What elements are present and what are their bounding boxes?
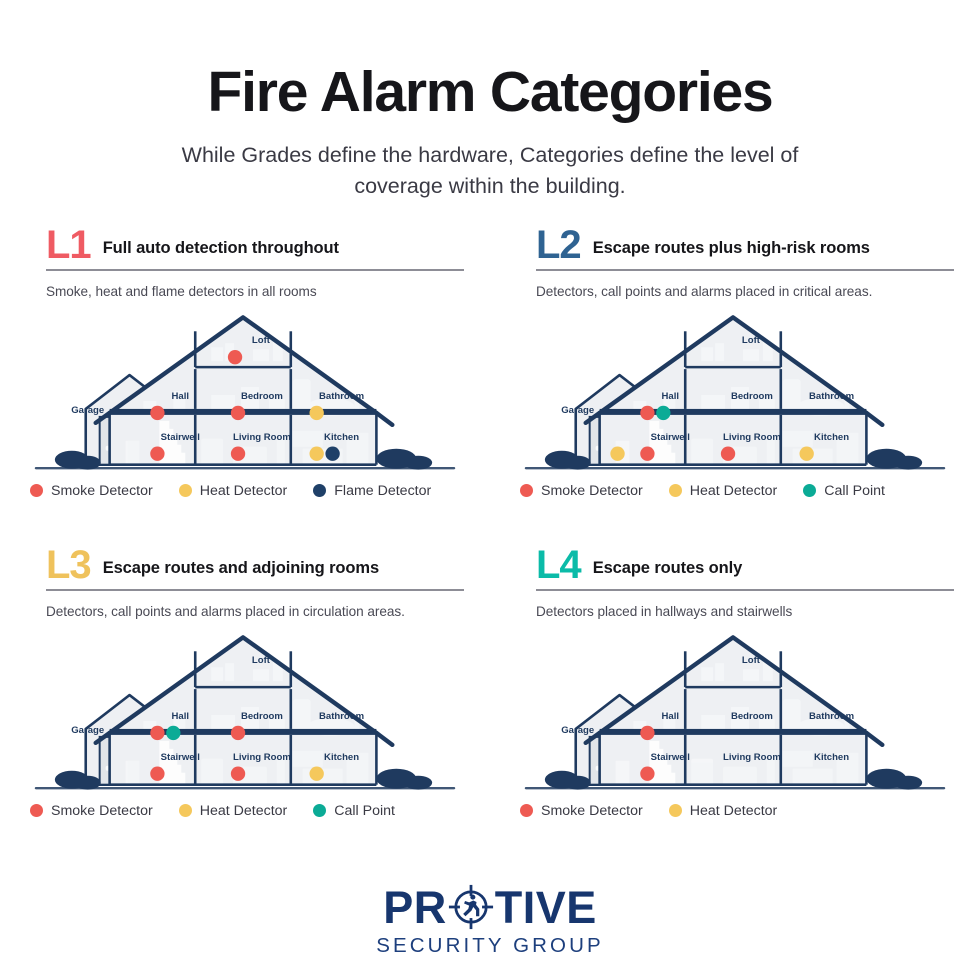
room-label-stairwell: Stairwell [651, 752, 690, 763]
legend-label: Smoke Detector [541, 483, 643, 499]
room-label-kitchen: Kitchen [324, 432, 359, 443]
room-label-bathroom: Bathroom [319, 391, 364, 402]
logo-text-after: TIVE [495, 885, 597, 930]
legend-l3: Smoke Detector Heat Detector Call Point [30, 803, 464, 819]
detector-smoke[interactable] [150, 726, 164, 740]
detector-flame[interactable] [325, 447, 339, 461]
room-label-garage: Garage [561, 405, 594, 416]
detector-smoke[interactable] [228, 350, 242, 364]
category-panel-l1: L1 Full auto detection throughout Smoke,… [0, 228, 490, 548]
legend-label: Call Point [334, 803, 395, 819]
detector-smoke[interactable] [640, 767, 654, 781]
detector-smoke[interactable] [640, 406, 654, 420]
category-grid: L1 Full auto detection throughout Smoke,… [0, 228, 980, 868]
brand-logo: PR TIVE SECURITY GROUP [0, 884, 980, 958]
room-label-bedroom: Bedroom [731, 391, 773, 402]
legend-label: Smoke Detector [51, 483, 153, 499]
legend-item: Flame Detector [313, 483, 431, 499]
legend-label: Smoke Detector [541, 803, 643, 819]
category-panel-l4: L4 Escape routes only Detectors placed i… [490, 548, 980, 868]
legend-label: Flame Detector [334, 483, 431, 499]
divider-rule [536, 269, 954, 271]
category-title: Escape routes and adjoining rooms [103, 559, 379, 582]
room-label-garage: Garage [561, 725, 594, 736]
logo-text-before: PR [383, 885, 447, 930]
legend-label: Heat Detector [690, 483, 778, 499]
legend-label: Heat Detector [200, 803, 288, 819]
legend-item: Heat Detector [179, 803, 288, 819]
room-label-living-room: Living Room [233, 432, 291, 443]
panel-header: L1 Full auto detection throughout [26, 228, 464, 262]
detector-smoke[interactable] [150, 767, 164, 781]
legend-dot [520, 804, 533, 817]
category-title: Escape routes plus high-risk rooms [593, 239, 870, 262]
room-label-living-room: Living Room [723, 752, 781, 763]
legend-dot [313, 484, 326, 497]
category-title: Escape routes only [593, 559, 743, 582]
logo-tagline: SECURITY GROUP [376, 934, 604, 958]
legend-item: Heat Detector [669, 483, 778, 499]
detector-heat[interactable] [310, 447, 324, 461]
legend-item: Call Point [803, 483, 885, 499]
panel-header: L4 Escape routes only [516, 548, 954, 582]
detector-call_point[interactable] [166, 726, 180, 740]
legend-item: Smoke Detector [520, 803, 643, 819]
room-label-bathroom: Bathroom [809, 391, 854, 402]
detector-smoke[interactable] [231, 406, 245, 420]
house-diagram-l4: GarageLoftHallBedroomBathroomStairwellLi… [516, 633, 954, 793]
category-title: Full auto detection throughout [103, 239, 339, 262]
room-label-loft: Loft [252, 655, 271, 666]
legend-dot [669, 484, 682, 497]
room-label-garage: Garage [71, 725, 104, 736]
detector-heat[interactable] [310, 767, 324, 781]
divider-rule [536, 589, 954, 591]
category-panel-l2: L2 Escape routes plus high-risk rooms De… [490, 228, 980, 548]
house-diagram-l2: GarageLoftHallBedroomBathroomStairwellLi… [516, 313, 954, 473]
room-label-bathroom: Bathroom [319, 711, 364, 722]
panel-header: L3 Escape routes and adjoining rooms [26, 548, 464, 582]
room-label-bedroom: Bedroom [241, 711, 283, 722]
detector-smoke[interactable] [231, 726, 245, 740]
legend-l2: Smoke Detector Heat Detector Call Point [520, 483, 954, 499]
legend-item: Smoke Detector [30, 803, 153, 819]
legend-dot [179, 484, 192, 497]
legend-dot [520, 484, 533, 497]
room-label-living-room: Living Room [723, 432, 781, 443]
room-label-hall: Hall [172, 391, 190, 402]
detector-smoke[interactable] [231, 767, 245, 781]
room-label-hall: Hall [172, 711, 190, 722]
legend-dot [179, 804, 192, 817]
legend-label: Heat Detector [200, 483, 288, 499]
legend-dot [30, 484, 43, 497]
room-label-stairwell: Stairwell [161, 432, 200, 443]
room-label-loft: Loft [742, 655, 761, 666]
detector-heat[interactable] [800, 447, 814, 461]
category-panel-l3: L3 Escape routes and adjoining rooms Det… [0, 548, 490, 868]
legend-l4: Smoke Detector Heat Detector [520, 803, 954, 819]
divider-rule [46, 589, 464, 591]
detector-smoke[interactable] [640, 726, 654, 740]
legend-dot [669, 804, 682, 817]
header: Fire Alarm Categories While Grades defin… [0, 0, 980, 201]
legend-item: Smoke Detector [520, 483, 643, 499]
detector-heat[interactable] [310, 406, 324, 420]
page-subtitle: While Grades define the hardware, Catego… [140, 140, 840, 201]
room-label-loft: Loft [252, 335, 271, 346]
legend-l1: Smoke Detector Heat Detector Flame Detec… [30, 483, 464, 499]
category-code-l2: L2 [536, 228, 581, 262]
legend-item: Call Point [313, 803, 395, 819]
room-label-stairwell: Stairwell [161, 752, 200, 763]
room-label-hall: Hall [662, 391, 680, 402]
page-title: Fire Alarm Categories [0, 62, 980, 122]
category-description: Detectors placed in hallways and stairwe… [536, 604, 954, 619]
room-label-living-room: Living Room [233, 752, 291, 763]
divider-rule [46, 269, 464, 271]
category-code-l3: L3 [46, 548, 91, 582]
house-diagram-l1: GarageLoftHallBedroomBathroomStairwellLi… [26, 313, 464, 473]
category-description: Detectors, call points and alarms placed… [46, 604, 464, 619]
legend-label: Heat Detector [690, 803, 778, 819]
room-label-stairwell: Stairwell [651, 432, 690, 443]
legend-dot [313, 804, 326, 817]
detector-smoke[interactable] [721, 447, 735, 461]
panel-header: L2 Escape routes plus high-risk rooms [516, 228, 954, 262]
room-label-bedroom: Bedroom [731, 711, 773, 722]
legend-label: Call Point [824, 483, 885, 499]
room-label-bedroom: Bedroom [241, 391, 283, 402]
room-label-kitchen: Kitchen [324, 752, 359, 763]
detector-smoke[interactable] [150, 406, 164, 420]
category-code-l1: L1 [46, 228, 91, 262]
room-label-bathroom: Bathroom [809, 711, 854, 722]
category-description: Smoke, heat and flame detectors in all r… [46, 284, 464, 299]
category-code-l4: L4 [536, 548, 581, 582]
room-label-loft: Loft [742, 335, 761, 346]
logo-wordmark: PR TIVE [383, 884, 597, 930]
detector-smoke[interactable] [640, 447, 654, 461]
legend-item: Smoke Detector [30, 483, 153, 499]
legend-item: Heat Detector [669, 803, 778, 819]
detector-call_point[interactable] [656, 406, 670, 420]
room-label-garage: Garage [71, 405, 104, 416]
detector-heat[interactable] [610, 447, 624, 461]
room-label-hall: Hall [662, 711, 680, 722]
legend-dot [803, 484, 816, 497]
legend-dot [30, 804, 43, 817]
house-diagram-l3: GarageLoftHallBedroomBathroomStairwellLi… [26, 633, 464, 793]
room-label-kitchen: Kitchen [814, 752, 849, 763]
infographic-page: Fire Alarm Categories While Grades defin… [0, 0, 980, 980]
legend-label: Smoke Detector [51, 803, 153, 819]
crosshair-runner-icon [448, 884, 494, 930]
detector-smoke[interactable] [150, 447, 164, 461]
room-label-kitchen: Kitchen [814, 432, 849, 443]
legend-item: Heat Detector [179, 483, 288, 499]
detector-smoke[interactable] [231, 447, 245, 461]
category-description: Detectors, call points and alarms placed… [536, 284, 954, 299]
